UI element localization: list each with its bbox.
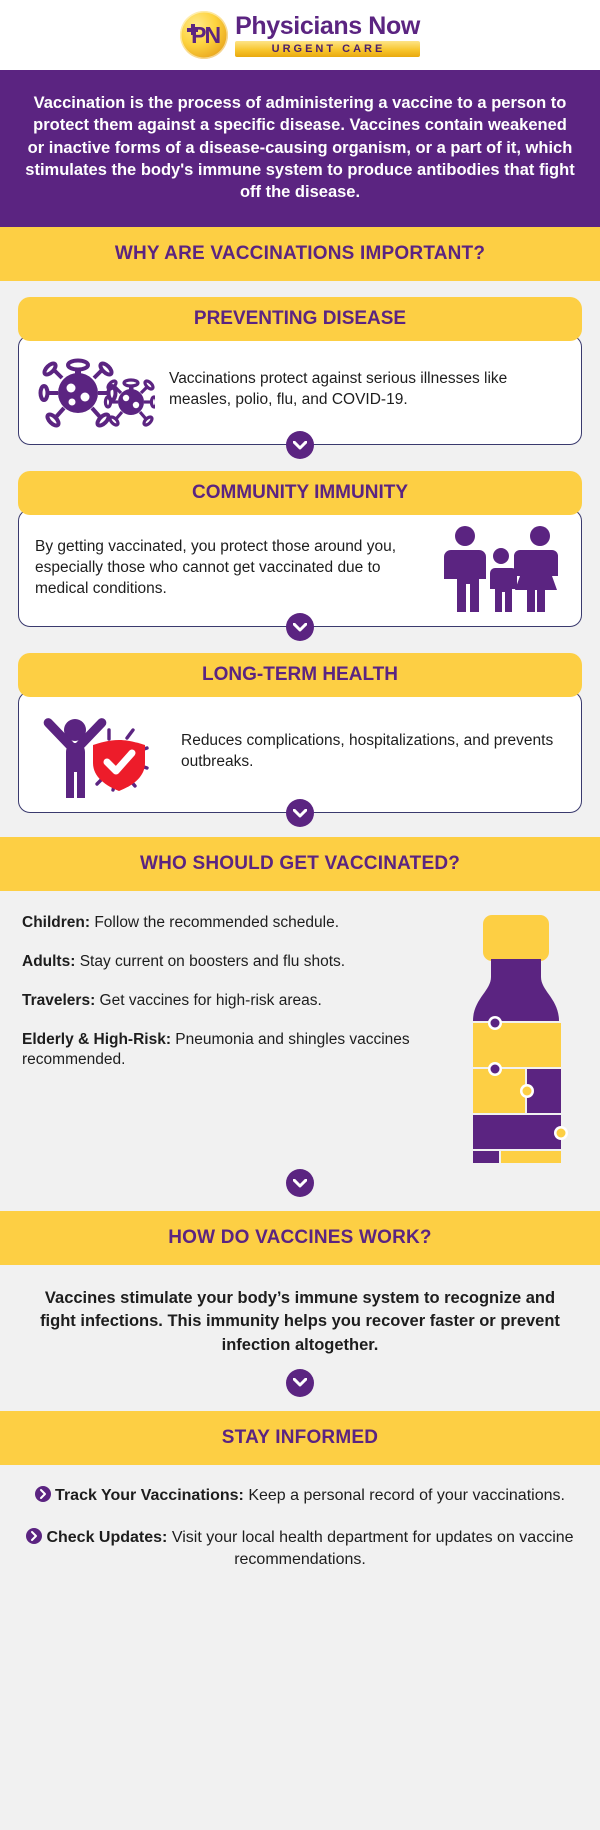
who-list: Children: Follow the recommended schedul… <box>22 909 448 1163</box>
card-text: Vaccinations protect against serious ill… <box>169 369 565 411</box>
person-shield-icon <box>35 706 167 798</box>
card-text: By getting vaccinated, you protect those… <box>35 537 423 600</box>
intro-paragraph: Vaccination is the process of administer… <box>0 70 600 227</box>
logo-badge-icon: PN <box>180 11 228 59</box>
how-chevron-row <box>0 1363 600 1411</box>
logo-name: Physicians Now <box>235 14 420 39</box>
list-item-text: Get vaccines for high-risk areas. <box>95 992 322 1009</box>
card-heading: LONG-TERM HEALTH <box>18 653 582 697</box>
list-item-label: Check Updates: <box>46 1529 167 1546</box>
chevron-right-circle-icon <box>35 1486 51 1502</box>
card-body: Reduces complications, hospitalizations,… <box>18 691 582 813</box>
list-item: Elderly & High-Risk: Pneumonia and shing… <box>22 1030 448 1072</box>
list-item-label: Adults: <box>22 953 75 970</box>
card-body: Vaccinations protect against serious ill… <box>18 335 582 445</box>
who-section: Children: Follow the recommended schedul… <box>0 891 600 1163</box>
card-text: Reduces complications, hospitalizations,… <box>181 731 565 773</box>
list-item-label: Elderly & High-Risk: <box>22 1031 171 1048</box>
section-title-informed: STAY INFORMED <box>0 1411 600 1465</box>
benefit-card: PREVENTING DISEASE <box>18 297 582 445</box>
benefit-card: COMMUNITY IMMUNITY <box>18 471 582 627</box>
family-icon <box>437 524 565 612</box>
section-title-why: WHY ARE VACCINATIONS IMPORTANT? <box>0 227 600 281</box>
section-title-how: HOW DO VACCINES WORK? <box>0 1211 600 1265</box>
list-item: Travelers: Get vaccines for high-risk ar… <box>22 991 448 1012</box>
vaccine-vial-puzzle-icon <box>458 909 578 1163</box>
list-item: Check Updates: Visit your local health d… <box>22 1527 578 1571</box>
list-item: Adults: Stay current on boosters and flu… <box>22 952 448 973</box>
informed-section: Track Your Vaccinations: Keep a personal… <box>0 1465 600 1597</box>
chevron-down-icon[interactable] <box>286 799 314 827</box>
how-paragraph: Vaccines stimulate your body’s immune sy… <box>0 1265 600 1362</box>
card-heading: PREVENTING DISEASE <box>18 297 582 341</box>
list-item: Children: Follow the recommended schedul… <box>22 913 448 934</box>
list-item-text: Keep a personal record of your vaccinati… <box>244 1487 565 1504</box>
chevron-down-icon[interactable] <box>286 613 314 641</box>
list-item-label: Travelers: <box>22 992 95 1009</box>
list-item-label: Track Your Vaccinations: <box>55 1487 244 1504</box>
chevron-right-circle-icon <box>26 1528 42 1544</box>
chevron-down-icon[interactable] <box>286 1169 314 1197</box>
list-item-label: Children: <box>22 914 90 931</box>
list-item: Track Your Vaccinations: Keep a personal… <box>22 1485 578 1507</box>
list-item-text: Visit your local health department for u… <box>167 1529 573 1568</box>
section-title-who: WHO SHOULD GET VACCINATED? <box>0 837 600 891</box>
chevron-down-icon[interactable] <box>286 1369 314 1397</box>
list-item-text: Follow the recommended schedule. <box>90 914 339 931</box>
virus-icon <box>35 350 155 430</box>
benefit-card: LONG-TERM HEALTH <box>18 653 582 813</box>
list-item-text: Stay current on boosters and flu shots. <box>75 953 345 970</box>
card-body: By getting vaccinated, you protect those… <box>18 509 582 627</box>
brand-header: PN Physicians Now URGENT CARE <box>0 0 600 70</box>
chevron-down-icon[interactable] <box>286 431 314 459</box>
logo[interactable]: PN Physicians Now URGENT CARE <box>180 11 420 59</box>
benefit-card-list: PREVENTING DISEASE <box>0 281 600 837</box>
logo-monogram: PN <box>191 24 219 47</box>
card-heading: COMMUNITY IMMUNITY <box>18 471 582 515</box>
logo-tagline: URGENT CARE <box>235 41 420 57</box>
who-chevron-row <box>0 1163 600 1211</box>
